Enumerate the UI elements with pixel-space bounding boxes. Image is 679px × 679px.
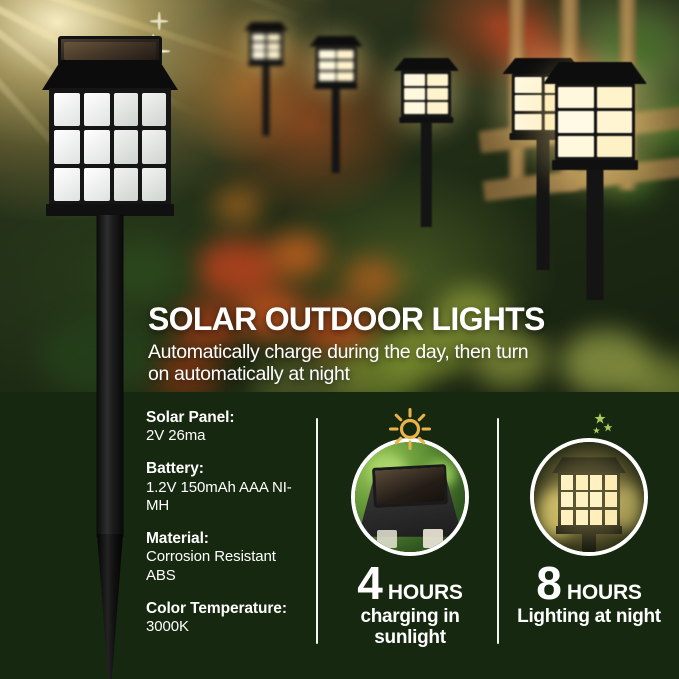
lantern-face [252, 34, 280, 59]
lantern-roof [543, 62, 647, 84]
lantern-roof [394, 58, 459, 71]
lantern-post [332, 89, 340, 173]
lantern-post [537, 140, 550, 270]
feature-charging: 4 HOURS charging in sunlight [329, 438, 491, 649]
lighting-caption: Lighting at night [508, 606, 670, 627]
sun-icon [387, 406, 433, 457]
lantern-pane [319, 61, 336, 71]
lantern-roof [42, 60, 178, 90]
lantern-pane [427, 74, 448, 86]
spec-list: Solar Panel: 2V 26ma Battery: 1.2V 150mA… [146, 408, 306, 650]
lantern-face [558, 87, 632, 157]
lighting-hours-number: 8 [536, 562, 561, 604]
product-marketing-image: SOLAR OUTDOOR LIGHTS Automatically charg… [0, 0, 679, 679]
page-title: SOLAR OUTDOOR LIGHTS [148, 303, 548, 337]
headline-block: SOLAR OUTDOOR LIGHTS Automatically charg… [148, 303, 548, 386]
charging-hours-number: 4 [357, 562, 382, 604]
charging-hours-unit: HOURS [388, 581, 463, 605]
lantern-pane [319, 72, 336, 82]
spec-item: Color Temperature: 3000K [146, 599, 306, 637]
lantern-body [49, 88, 171, 206]
spec-label: Solar Panel: [146, 408, 306, 427]
lantern-pane [404, 74, 425, 86]
foliage-blob [344, 258, 398, 302]
lantern-pane [267, 43, 280, 51]
lantern-roof [244, 22, 288, 31]
spec-value: Corrosion Resistant ABS [146, 548, 306, 586]
lantern-face-right [114, 93, 166, 201]
spec-label: Material: [146, 529, 306, 548]
lantern-pane [558, 87, 594, 108]
spec-label: Battery: [146, 459, 306, 478]
lantern-pane [319, 50, 336, 60]
lantern-pane [515, 77, 542, 93]
lantern-pane [427, 88, 448, 100]
page-subtitle: Automatically charge during the day, the… [148, 341, 548, 386]
feature-lighting: 8 HOURS Lighting at night [508, 438, 670, 627]
lantern-pane [337, 61, 354, 71]
spec-label: Color Temperature: [146, 599, 306, 618]
lantern-post [263, 66, 270, 136]
spec-item: Material: Corrosion Resistant ABS [146, 529, 306, 586]
lantern-pane [597, 136, 633, 157]
lantern-body [316, 47, 357, 85]
lantern-pane [404, 102, 425, 114]
lantern-face [319, 50, 354, 82]
lantern-pane [267, 34, 280, 42]
lantern-pane [337, 72, 354, 82]
lantern-base [552, 160, 638, 170]
moon-stars-icon [562, 406, 616, 457]
spec-value: 3000K [146, 618, 306, 637]
lantern-pane [597, 111, 633, 132]
lantern-pane [252, 34, 265, 42]
foliage-blob [214, 186, 262, 224]
spec-item: Battery: 1.2V 150mAh AAA NI-MH [146, 459, 306, 516]
lantern-post [587, 170, 604, 300]
spec-item: Solar Panel: 2V 26ma [146, 408, 306, 446]
lantern-pane [267, 51, 280, 59]
spec-value: 1.2V 150mAh AAA NI-MH [146, 479, 306, 517]
charging-caption: charging in sunlight [329, 606, 491, 649]
light-ray [149, 0, 356, 11]
lantern-pane [558, 111, 594, 132]
lighting-hours-unit: HOURS [567, 581, 642, 605]
lantern-pane [252, 43, 265, 51]
spec-value: 2V 26ma [146, 427, 306, 446]
lantern-pane [427, 102, 448, 114]
lantern-pane [515, 95, 542, 111]
lantern-post [421, 123, 431, 226]
lantern-pane [597, 87, 633, 108]
lantern-pane [252, 51, 265, 59]
lantern-body [401, 71, 451, 117]
lighting-hours-line: 8 HOURS [508, 562, 670, 605]
lantern-post [97, 215, 124, 537]
lantern-pane [558, 136, 594, 157]
foliage-blob [268, 232, 326, 278]
lantern-roof [309, 36, 362, 47]
lantern-pane [404, 88, 425, 100]
lantern-body [555, 84, 635, 160]
lantern-pane [515, 114, 542, 130]
lantern-face [404, 74, 448, 114]
lantern-face-left [54, 93, 110, 201]
divider-left [316, 418, 318, 644]
divider-right [497, 418, 499, 644]
charging-hours-line: 4 HOURS [329, 562, 491, 605]
lantern-pane [337, 50, 354, 60]
lantern-body [249, 31, 283, 62]
